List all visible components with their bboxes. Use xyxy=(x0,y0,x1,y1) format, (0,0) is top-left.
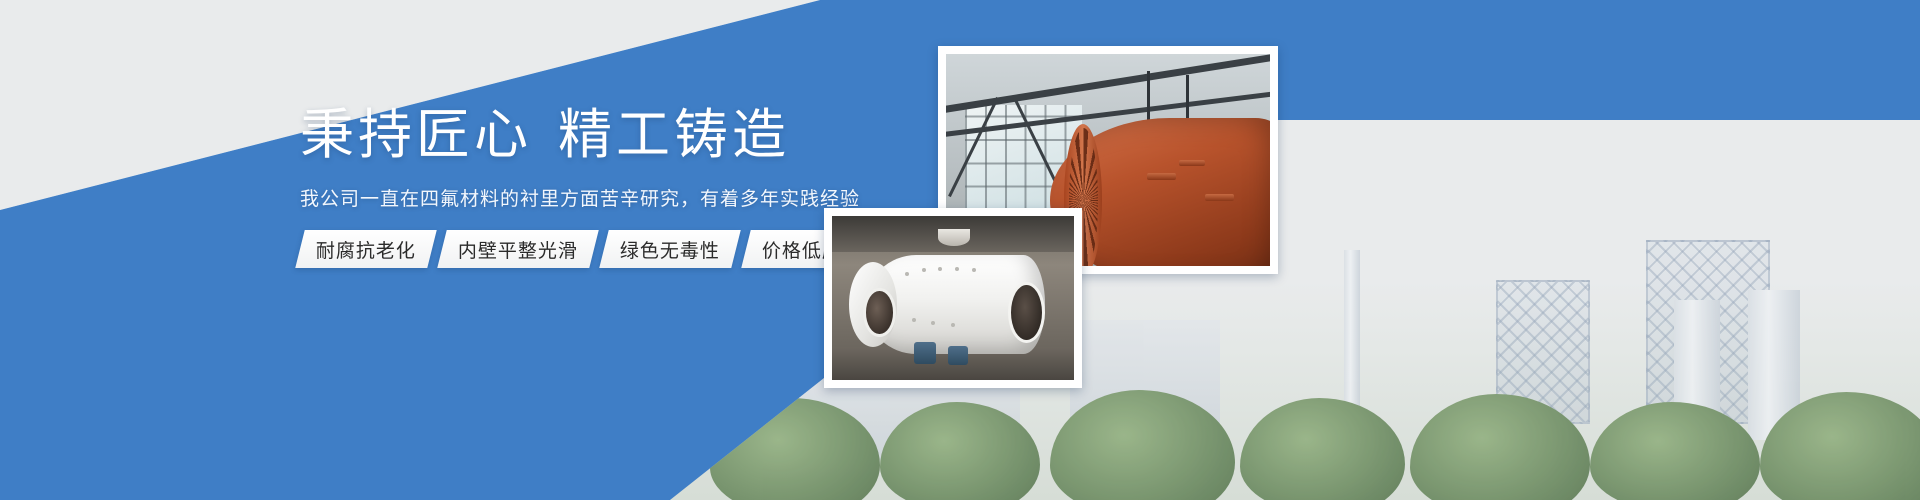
reactor-nozzle-a xyxy=(1147,173,1176,180)
reactor-nozzle-c xyxy=(1205,194,1234,201)
tank-side-port xyxy=(863,288,896,337)
tank-bottom-valve-a xyxy=(914,342,936,363)
headline-part-two: 精工铸造 xyxy=(558,105,790,165)
page-title: 秉持匠心精工铸造 xyxy=(300,108,860,162)
white-tank-photo[interactable] xyxy=(824,208,1082,388)
reactor-nozzle-b xyxy=(1179,160,1205,166)
white-tank-photo-image xyxy=(832,216,1074,380)
tank-bottom-valve-b xyxy=(948,346,967,366)
hero-banner: 秉持匠心精工铸造 我公司一直在四氟材料的衬里方面苦辛研究，有着多年实践经验 耐腐… xyxy=(0,0,1920,500)
feature-pill-label: 内壁平整光滑 xyxy=(458,236,578,263)
ceiling-lamp xyxy=(938,229,969,245)
feature-pill-non-toxic[interactable]: 绿色无毒性 xyxy=(599,230,740,268)
feature-pill-corrosion[interactable]: 耐腐抗老化 xyxy=(295,230,436,268)
orange-reactor-shell xyxy=(1050,118,1270,266)
feature-pill-list: 耐腐抗老化 内壁平整光滑 绿色无毒性 价格低廉 xyxy=(300,230,868,268)
tank-manway xyxy=(1008,282,1045,344)
hero-subtitle: 我公司一直在四氟材料的衬里方面苦辛研究，有着多年实践经验 xyxy=(300,184,860,211)
wedge-treeline xyxy=(670,390,1920,500)
hero-copy-block: 秉持匠心精工铸造 我公司一直在四氟材料的衬里方面苦辛研究，有着多年实践经验 xyxy=(300,108,860,211)
feature-pill-label: 耐腐抗老化 xyxy=(316,236,416,263)
feature-pill-smooth-wall[interactable]: 内壁平整光滑 xyxy=(437,230,598,268)
feature-pill-label: 绿色无毒性 xyxy=(620,236,720,263)
headline-part-one: 秉持匠心 xyxy=(300,105,532,165)
